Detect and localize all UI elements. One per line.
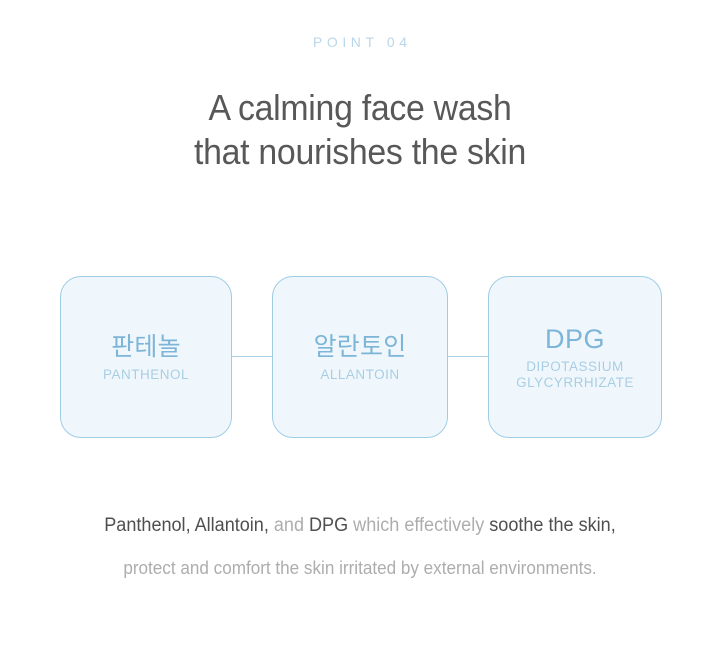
ingredient-card-dpg: DPG DIPOTASSIUM GLYCYRRHIZATE — [488, 276, 662, 438]
description-line-1: Panthenol, Allantoin, and DPG which effe… — [18, 505, 702, 547]
ingredient-title: DPG — [545, 324, 605, 354]
point-eyebrow: POINT 04 — [0, 34, 720, 50]
description-text: Panthenol, Allantoin, and DPG which effe… — [18, 505, 702, 589]
description-segment-and: and — [274, 515, 304, 536]
connector-line-2 — [448, 356, 488, 357]
ingredient-subtitle-line-1: PANTHENOL — [103, 367, 189, 383]
ingredient-subtitle-line-1: DIPOTASSIUM — [516, 359, 634, 375]
description-segment-ingredients: Panthenol, Allantoin, — [104, 515, 269, 536]
page-title-line-2: that nourishes the skin — [22, 130, 699, 174]
ingredient-card-allantoin: 알란토인 ALLANTOIN — [272, 276, 448, 438]
ingredient-subtitle-line-1: ALLANTOIN — [320, 367, 399, 383]
ingredient-title: 알란토인 — [314, 332, 407, 362]
description-segment-soothe: soothe the skin, — [489, 515, 615, 536]
connector-line-1 — [232, 356, 272, 357]
page-title-line-1: A calming face wash — [22, 86, 699, 130]
ingredient-diagram: 판테놀 PANTHENOL 알란토인 ALLANTOIN DPG DIPOTAS… — [60, 276, 662, 438]
ingredient-subtitle-line-2: GLYCYRRHIZATE — [516, 375, 634, 391]
description-segment-which: which effectively — [353, 515, 484, 536]
description-segment-dpg: DPG — [309, 515, 348, 536]
promo-page: POINT 04 A calming face wash that nouris… — [0, 0, 720, 665]
ingredient-subtitle: PANTHENOL — [103, 367, 189, 383]
ingredient-card-panthenol: 판테놀 PANTHENOL — [60, 276, 232, 438]
ingredient-subtitle: ALLANTOIN — [320, 367, 399, 383]
ingredient-title: 판테놀 — [111, 332, 181, 362]
ingredient-subtitle: DIPOTASSIUM GLYCYRRHIZATE — [516, 359, 634, 391]
description-line-2: protect and comfort the skin irritated b… — [18, 547, 702, 589]
page-title: A calming face wash that nourishes the s… — [22, 86, 699, 174]
